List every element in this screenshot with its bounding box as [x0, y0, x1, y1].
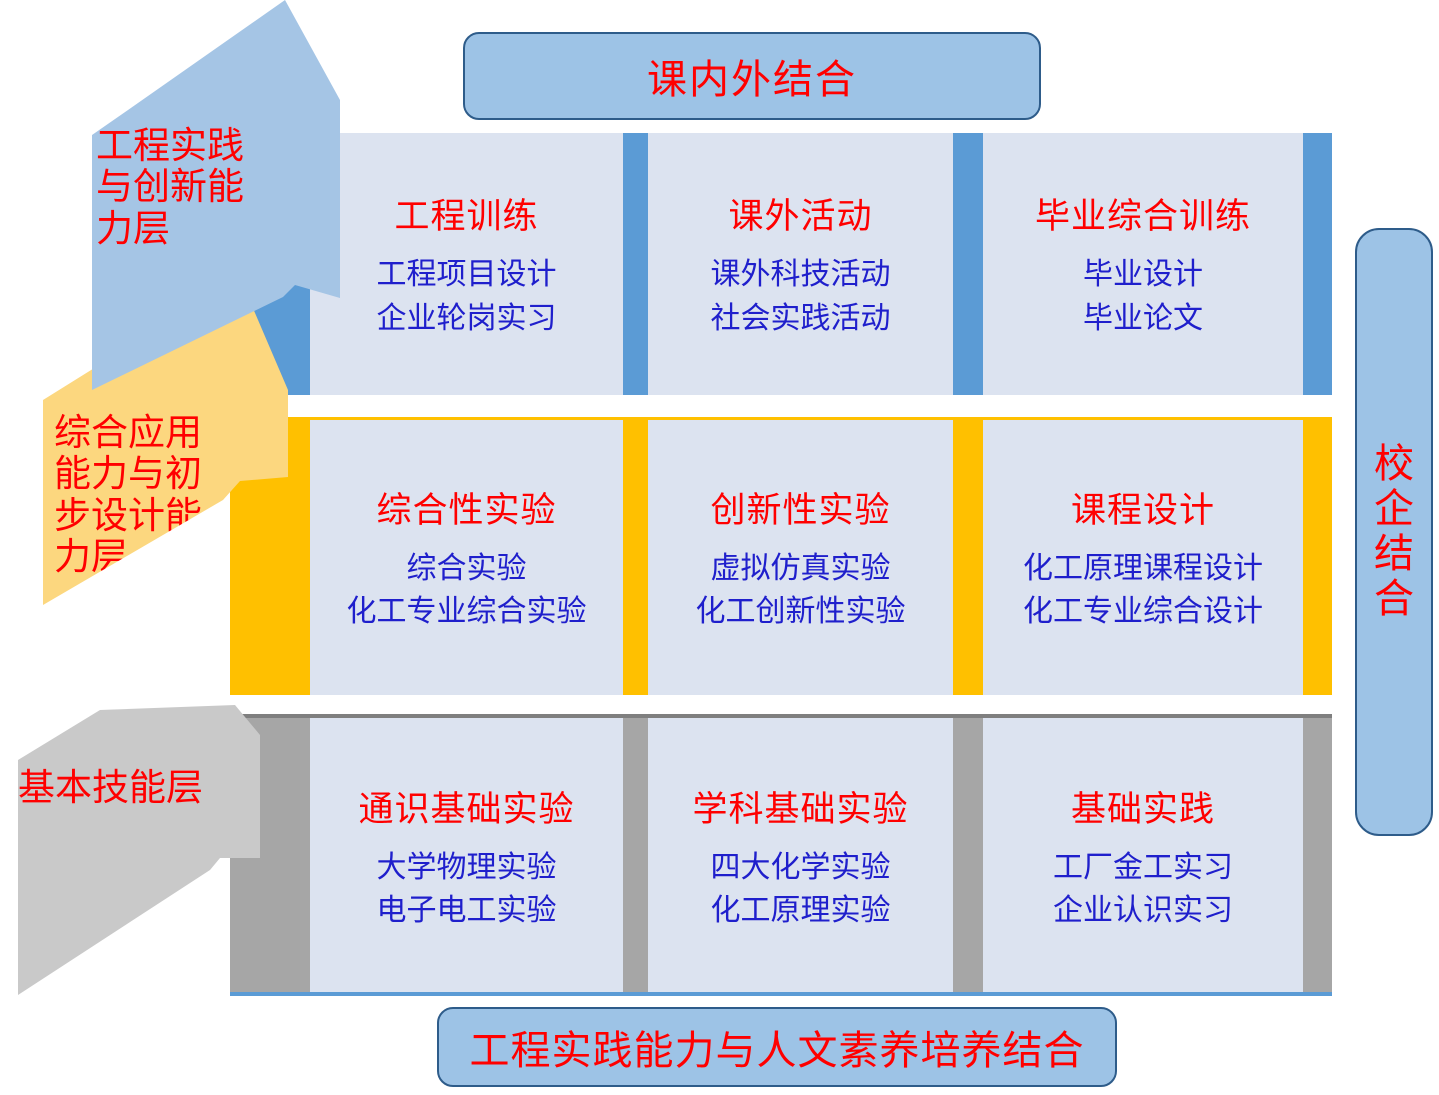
cell-item: 综合实验 [407, 547, 527, 591]
banner-right-text: 校企结合 [1374, 442, 1414, 621]
row-3-bottom-rule [230, 992, 1332, 996]
cell-item: 工厂金工实习 [1053, 846, 1233, 890]
cell-title: 基础实践 [1071, 781, 1215, 832]
diagram-canvas: 课内外结合 工程训练 工程项目设计 企业轮岗实习 课外活动 课外科技活动 社会实… [0, 0, 1439, 1095]
cell-item: 电子电工实验 [377, 889, 557, 933]
layer-label-3: 基本技能层 [18, 768, 203, 809]
cell-3-3: 基础实践 工厂金工实习 企业认识实习 [983, 718, 1303, 995]
cell-item: 化工专业综合实验 [347, 590, 587, 634]
cell-item: 工程项目设计 [377, 253, 557, 297]
cell-title: 创新性实验 [710, 482, 890, 533]
banner-right-char: 合 [1374, 577, 1414, 622]
banner-top: 课内外结合 [463, 32, 1041, 120]
cell-1-3: 毕业综合训练 毕业设计 毕业论文 [983, 133, 1303, 395]
cell-2-2: 创新性实验 虚拟仿真实验 化工创新性实验 [648, 420, 953, 695]
cell-item: 课外科技活动 [711, 253, 891, 297]
cell-title: 课程设计 [1071, 482, 1215, 533]
cell-3-1: 通识基础实验 大学物理实验 电子电工实验 [310, 718, 623, 995]
layer-label-1: 工程实践 与创新能 力层 [96, 126, 244, 250]
banner-right-char: 结 [1374, 532, 1414, 577]
banner-right-char: 校 [1374, 442, 1414, 487]
cell-item: 化工创新性实验 [696, 590, 906, 634]
cell-item: 毕业设计 [1083, 253, 1203, 297]
banner-right-char: 企 [1374, 487, 1414, 532]
cell-title: 通识基础实验 [358, 781, 574, 832]
cell-2-3: 课程设计 化工原理课程设计 化工专业综合设计 [983, 420, 1303, 695]
cell-item: 化工专业综合设计 [1023, 590, 1263, 634]
layer-row-1: 工程训练 工程项目设计 企业轮岗实习 课外活动 课外科技活动 社会实践活动 毕业… [230, 133, 1332, 395]
cell-item: 四大化学实验 [711, 846, 891, 890]
cell-item: 大学物理实验 [377, 846, 557, 890]
cell-2-1: 综合性实验 综合实验 化工专业综合实验 [310, 420, 623, 695]
cell-item: 企业认识实习 [1053, 889, 1233, 933]
layer-label-2: 综合应用 能力与初 步设计能 力层 [54, 413, 202, 579]
banner-right: 校企结合 [1355, 228, 1433, 836]
cell-item: 虚拟仿真实验 [711, 547, 891, 591]
cell-title: 毕业综合训练 [1035, 188, 1251, 239]
cell-title: 课外活动 [728, 188, 872, 239]
cell-item: 社会实践活动 [711, 297, 891, 341]
banner-bottom: 工程实践能力与人文素养培养结合 [437, 1007, 1117, 1087]
cell-item: 毕业论文 [1083, 297, 1203, 341]
cell-item: 化工原理课程设计 [1023, 547, 1263, 591]
cell-1-1: 工程训练 工程项目设计 企业轮岗实习 [310, 133, 623, 395]
cell-1-2: 课外活动 课外科技活动 社会实践活动 [648, 133, 953, 395]
cell-item: 企业轮岗实习 [377, 297, 557, 341]
cell-title: 综合性实验 [376, 482, 556, 533]
cell-title: 学科基础实验 [692, 781, 908, 832]
cell-title: 工程训练 [394, 188, 538, 239]
cell-item: 化工原理实验 [711, 889, 891, 933]
cell-3-2: 学科基础实验 四大化学实验 化工原理实验 [648, 718, 953, 995]
layer-row-2: 综合性实验 综合实验 化工专业综合实验 创新性实验 虚拟仿真实验 化工创新性实验… [230, 420, 1332, 695]
layer-row-3: 通识基础实验 大学物理实验 电子电工实验 学科基础实验 四大化学实验 化工原理实… [230, 718, 1332, 995]
